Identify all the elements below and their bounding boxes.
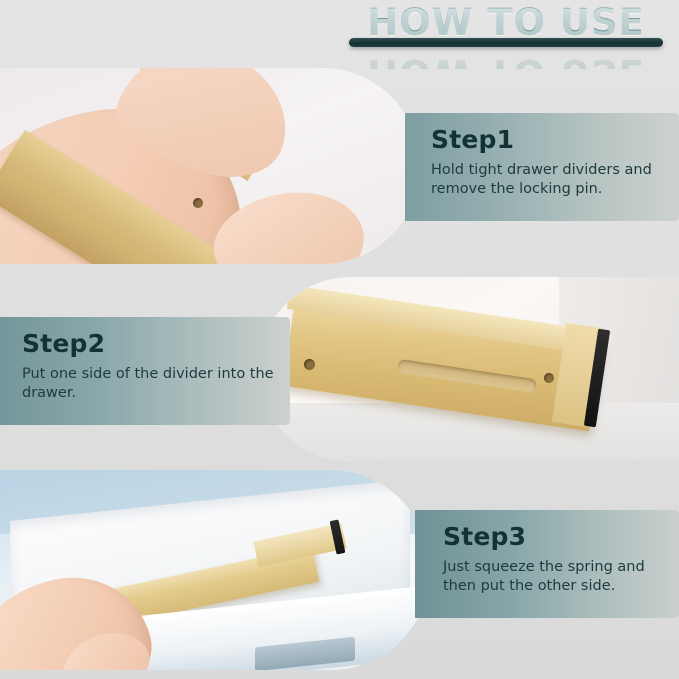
- title-reflection-text: HOW TO USE: [341, 51, 671, 69]
- infographic-page: HOW TO USE HOW TO USE Step1 Hold t: [0, 0, 679, 679]
- step-3-body: Just squeeze the spring and then put the…: [443, 558, 663, 596]
- divider-hole-left: [304, 359, 315, 370]
- step-1-title: Step1: [431, 125, 663, 154]
- title-underline-bar: [349, 38, 663, 47]
- divider-hole-right: [544, 373, 554, 383]
- step-3-photo: [0, 470, 430, 670]
- step-3-title: Step3: [443, 522, 663, 551]
- step-1-text-band: Step1 Hold tight drawer dividers and rem…: [405, 113, 679, 221]
- step-2-text-band: Step2 Put one side of the divider into t…: [0, 317, 290, 425]
- step-3-illustration: [0, 470, 430, 670]
- step-2-illustration: [259, 277, 679, 461]
- step-section-2: Step2 Put one side of the divider into t…: [0, 277, 679, 461]
- step-1-illustration: [0, 68, 420, 264]
- title-block: HOW TO USE HOW TO USE: [341, 2, 671, 66]
- header: HOW TO USE HOW TO USE: [0, 0, 679, 66]
- step-2-photo: [259, 277, 679, 461]
- step-3-text-band: Step3 Just squeeze the spring and then p…: [415, 510, 679, 618]
- title-reflection: HOW TO USE: [341, 47, 671, 69]
- step-section-3: Step3 Just squeeze the spring and then p…: [0, 470, 679, 670]
- divider-hole-lower: [193, 198, 203, 208]
- step-2-body: Put one side of the divider into the dra…: [22, 365, 274, 403]
- step-section-1: Step1 Hold tight drawer dividers and rem…: [0, 68, 679, 264]
- step-2-title: Step2: [22, 329, 274, 358]
- step-1-photo: [0, 68, 420, 264]
- step-1-body: Hold tight drawer dividers and remove th…: [431, 161, 663, 199]
